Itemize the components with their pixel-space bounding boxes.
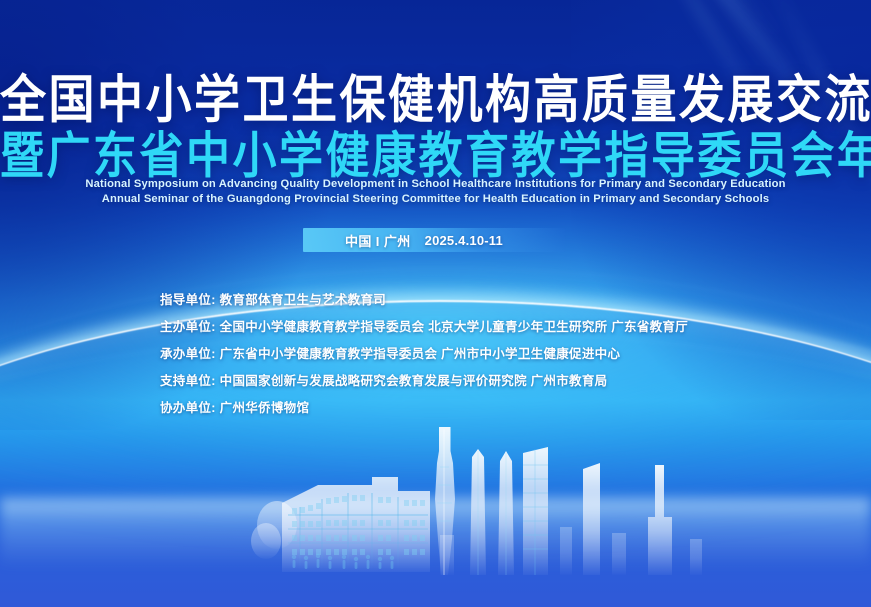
organizer-value: 教育部体育卫生与艺术教育司 [220, 289, 386, 308]
organizer-label: 主办单位: [160, 316, 216, 335]
title-line-1: 全国中小学卫生保健机构高质量发展交流研讨活动 [0, 74, 871, 126]
organizer-label: 指导单位: [160, 289, 216, 308]
organizer-row: 指导单位: 教育部体育卫生与艺术教育司 [160, 289, 688, 316]
organizer-row: 承办单位: 广东省中小学健康教育教学指导委员会 广州市中小学卫生健康促进中心 [160, 343, 688, 370]
organizer-label: 协办单位: [160, 397, 216, 416]
organizer-label: 支持单位: [160, 370, 216, 389]
venue-label: 中国 I 广州 [345, 231, 411, 250]
organizer-value: 全国中小学健康教育教学指导委员会 北京大学儿童青少年卫生研究所 广东省教育厅 [220, 316, 688, 335]
poster-title: 全国中小学卫生保健机构高质量发展交流研讨活动 暨广东省中小学健康教育教学指导委员… [0, 74, 871, 176]
organizer-label: 承办单位: [160, 343, 216, 362]
conference-poster: 全国中小学卫生保健机构高质量发展交流研讨活动 暨广东省中小学健康教育教学指导委员… [0, 0, 871, 607]
subtitle-line-1: National Symposium on Advancing Quality … [0, 177, 871, 192]
organizer-row: 支持单位: 中国国家创新与发展战略研究会教育发展与评价研究院 广州市教育局 [160, 370, 688, 397]
organizer-value: 广州华侨博物馆 [220, 397, 310, 416]
subtitle-line-2: Annual Seminar of the Guangdong Provinci… [0, 192, 871, 207]
organizer-row: 协办单位: 广州华侨博物馆 [160, 397, 688, 424]
poster-subtitle: National Symposium on Advancing Quality … [0, 177, 871, 207]
title-line-2: 暨广东省中小学健康教育教学指导委员会年度研讨活动 [0, 132, 871, 181]
organizer-value: 广东省中小学健康教育教学指导委员会 广州市中小学卫生健康促进中心 [220, 343, 621, 362]
ground-haze [0, 498, 871, 568]
date-label: 2025.4.10-11 [425, 233, 503, 248]
venue-date-banner: 中国 I 广州 2025.4.10-11 [303, 228, 565, 252]
organizer-list: 指导单位: 教育部体育卫生与艺术教育司 主办单位: 全国中小学健康教育教学指导委… [160, 289, 688, 424]
organizer-row: 主办单位: 全国中小学健康教育教学指导委员会 北京大学儿童青少年卫生研究所 广东… [160, 316, 688, 343]
organizer-value: 中国国家创新与发展战略研究会教育发展与评价研究院 广州市教育局 [220, 370, 608, 389]
